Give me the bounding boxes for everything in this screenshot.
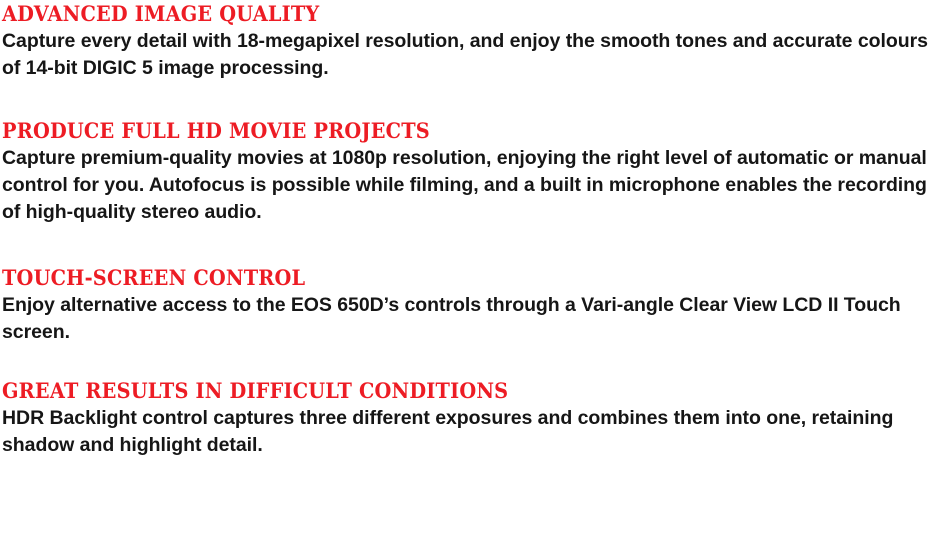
section-heading: PRODUCE FULL HD MOVIE PROJECTS — [2, 119, 872, 142]
feature-section-touch-screen-control: TOUCH-SCREEN CONTROL Enjoy alternative a… — [2, 266, 948, 346]
feature-section-advanced-image-quality: ADVANCED IMAGE QUALITY Capture every det… — [2, 2, 948, 82]
section-body-text: Capture every detail with 18-megapixel r… — [2, 28, 948, 82]
section-body-text: HDR Backlight control captures three dif… — [2, 405, 948, 459]
section-heading: GREAT RESULTS IN DIFFICULT CONDITIONS — [2, 379, 872, 402]
feature-sheet-page: ADVANCED IMAGE QUALITY Capture every det… — [0, 0, 950, 540]
section-heading: TOUCH-SCREEN CONTROL — [2, 266, 872, 289]
section-body-text: Capture premium-quality movies at 1080p … — [2, 145, 948, 226]
feature-section-produce-full-hd-movie-projects: PRODUCE FULL HD MOVIE PROJECTS Capture p… — [2, 119, 948, 226]
feature-section-great-results-in-difficult-conditions: GREAT RESULTS IN DIFFICULT CONDITIONS HD… — [2, 379, 948, 459]
section-body-text: Enjoy alternative access to the EOS 650D… — [2, 292, 948, 346]
section-heading: ADVANCED IMAGE QUALITY — [2, 2, 872, 25]
